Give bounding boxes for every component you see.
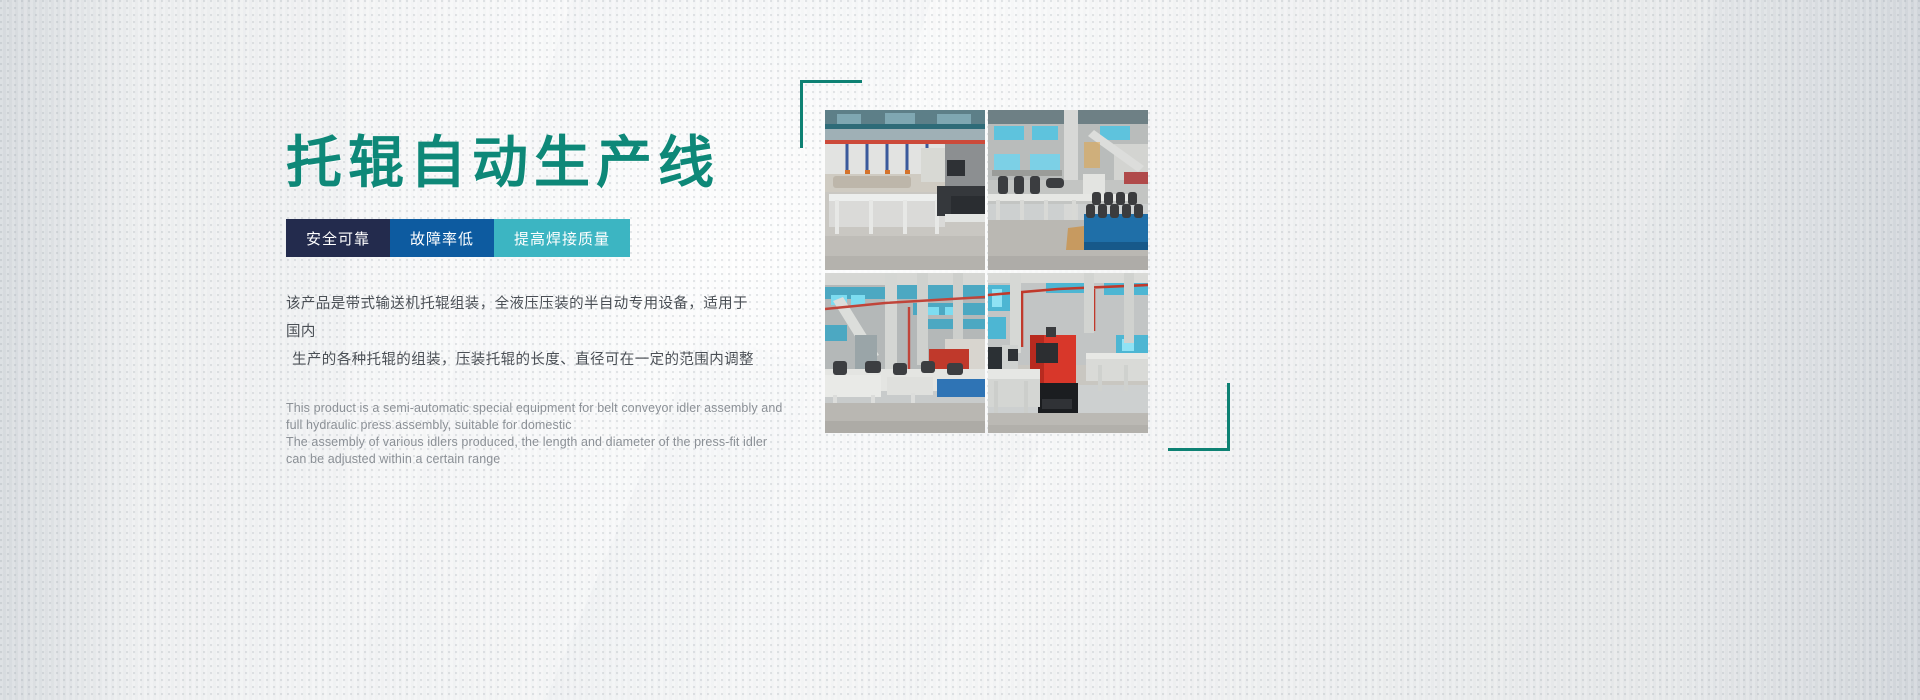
- feature-tag-low-failure-rate[interactable]: 故障率低: [390, 219, 494, 257]
- banner-text-column: 托辊自动生产线 安全可靠 故障率低 提高焊接质量 该产品是带式输送机托辊组装，全…: [286, 134, 756, 468]
- corner-bracket-bottom-right: [1168, 383, 1230, 451]
- product-banner: 托辊自动生产线 安全可靠 故障率低 提高焊接质量 该产品是带式输送机托辊组装，全…: [0, 0, 1920, 700]
- description-english-line-2: full hydraulic press assembly, suitable …: [286, 417, 756, 434]
- description-english-line-3: The assembly of various idlers produced,…: [286, 434, 756, 451]
- feature-tag-improve-weld-quality[interactable]: 提高焊接质量: [494, 219, 630, 257]
- description-chinese: 该产品是带式输送机托辊组装，全液压压装的半自动专用设备，适用于国内 生产的各种托…: [286, 290, 756, 374]
- photo-assembly-machinery[interactable]: [825, 273, 985, 433]
- description-english-line-4: can be adjusted within a certain range: [286, 451, 756, 468]
- page-title: 托辊自动生产线: [286, 134, 756, 191]
- description-english-line-1: This product is a semi-automatic special…: [286, 400, 756, 417]
- description-chinese-line-1: 该产品是带式输送机托辊组装，全液压压装的半自动专用设备，适用于国内: [286, 290, 756, 346]
- photo-red-hydraulic-press[interactable]: [988, 273, 1148, 433]
- photo-workshop-blue-bin[interactable]: [988, 110, 1148, 270]
- description-english: This product is a semi-automatic special…: [286, 400, 756, 468]
- product-photo-gallery: [800, 80, 1200, 480]
- feature-tag-list: 安全可靠 故障率低 提高焊接质量: [286, 219, 756, 257]
- photo-roller-conveyor-line[interactable]: [825, 110, 985, 270]
- photo-grid: [825, 110, 1148, 433]
- description-chinese-line-2: 生产的各种托辊的组装，压装托辊的长度、直径可在一定的范围内调整: [286, 346, 756, 374]
- feature-tag-safe-reliable[interactable]: 安全可靠: [286, 219, 390, 257]
